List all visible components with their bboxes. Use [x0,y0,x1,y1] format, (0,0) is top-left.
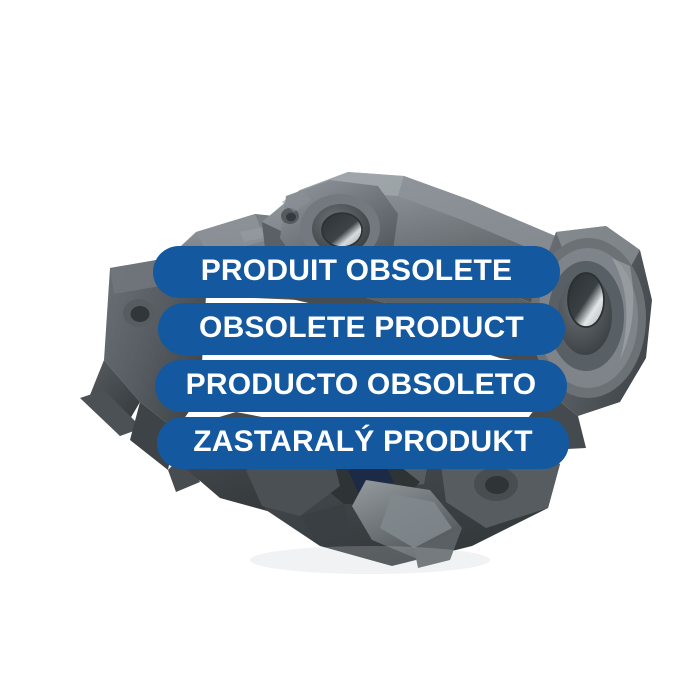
obsolete-banner-es: PRODUCTO OBSOLETO [155,360,567,412]
obsolete-banner-label-en: OBSOLETE PRODUCT [199,313,524,343]
obsolete-banner-stack: PRODUIT OBSOLETE OBSOLETE PRODUCT PRODUC… [0,246,700,469]
obsolete-banner-en: OBSOLETE PRODUCT [158,303,565,355]
obsolete-banner-label-cs: ZASTARALÝ PRODUKT [193,427,533,457]
obsolete-banner-fr: PRODUIT OBSOLETE [153,246,560,298]
obsolete-banner-label-es: PRODUCTO OBSOLETO [186,370,537,400]
obsolete-banner-cs: ZASTARALÝ PRODUKT [157,417,569,469]
obsolete-banner-label-fr: PRODUIT OBSOLETE [201,256,513,286]
product-obsolete-overlay-image: PRODUIT OBSOLETE OBSOLETE PRODUCT PRODUC… [0,0,700,700]
